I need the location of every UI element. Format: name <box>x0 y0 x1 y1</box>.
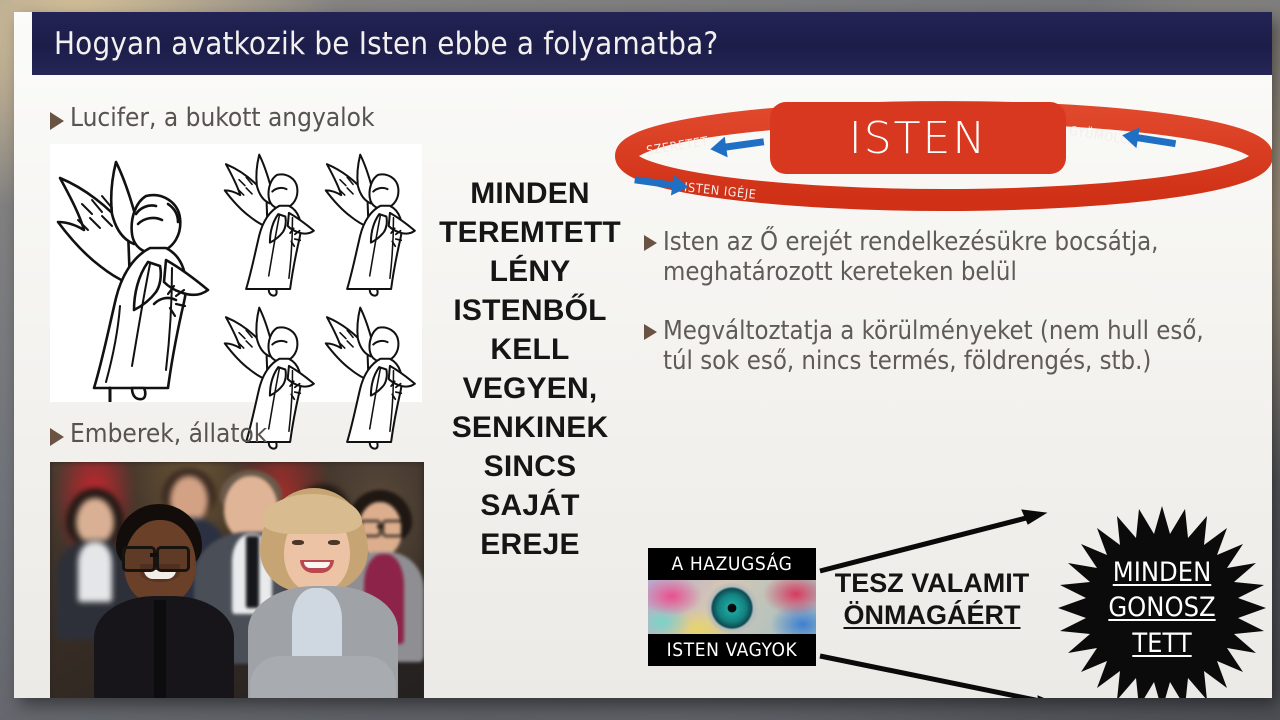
arrow-right-top-icon <box>1121 125 1178 154</box>
angel-large-icon <box>50 144 220 402</box>
connector-text-line2: ÖNMAGÁÉRT <box>826 600 1038 632</box>
page-title: Hogyan avatkozik be Isten ebbe a folyama… <box>32 26 718 62</box>
center-statement: MINDEN TEREMTETT LÉNY ISTENBŐL KELL VEGY… <box>432 174 628 564</box>
angel-small-grid <box>220 144 422 402</box>
statement-line: SENKINEK <box>432 408 628 447</box>
statement-line: TEREMTETT <box>432 213 628 252</box>
starburst-line2: GONOSZ <box>1108 590 1215 625</box>
lie-card: A HAZUGSÁG ISTEN VAGYOK <box>648 548 816 666</box>
bullet-isten-ereje: Isten az Ő erejét rendelkezésükre bocsát… <box>644 228 1224 287</box>
starburst-line3: TETT <box>1132 626 1191 661</box>
angel-small-icon <box>321 144 422 297</box>
arrow-to-star-bottom <box>820 656 1050 698</box>
bullet-korulmenyek: Megváltoztatja a körülményeket (nem hull… <box>644 317 1224 376</box>
connector-text: TESZ VALAMIT ÖNMAGÁÉRT <box>826 568 1038 632</box>
lie-card-bottom-band: ISTEN VAGYOK <box>648 634 816 666</box>
angel-illustration-group <box>50 144 422 402</box>
statement-line: ISTENBŐL <box>432 291 628 330</box>
bullet-emberek: Emberek, állatok <box>50 420 420 449</box>
cycle-arrows <box>633 125 1177 198</box>
people-photo <box>50 462 424 698</box>
statement-line: KELL <box>432 330 628 369</box>
eye-image <box>648 580 816 634</box>
slide-stage: Hogyan avatkozik be Isten ebbe a folyama… <box>0 0 1280 720</box>
lie-card-top-band: A HAZUGSÁG <box>648 548 816 580</box>
statement-line: VEGYEN, <box>432 369 628 408</box>
statement-line: MINDEN <box>432 174 628 213</box>
starburst-badge: MINDEN GONOSZ TETT <box>1044 504 1272 698</box>
angel-small-icon <box>220 144 321 297</box>
bullet-isten-ereje-label: Isten az Ő erejét rendelkezésükre bocsát… <box>663 228 1224 287</box>
arrow-to-star-top <box>820 516 1034 571</box>
person-front-woman <box>248 488 398 698</box>
arrow-left-bottom-icon <box>633 169 689 197</box>
triangle-bullet-icon <box>644 235 657 251</box>
statement-line: LÉNY <box>432 252 628 291</box>
bullet-lucifer: Lucifer, a bukott angyalok <box>50 104 420 133</box>
arrow-left-top-icon <box>709 131 765 159</box>
isten-cycle-diagram: ISTEN SZERETET ISTEN IGÉJE GYÜMÖLCS <box>614 98 1272 212</box>
starburst-text: MINDEN GONOSZ TETT <box>1044 504 1272 698</box>
triangle-bullet-icon <box>50 112 64 130</box>
bullet-lucifer-label: Lucifer, a bukott angyalok <box>70 104 375 133</box>
person-front-man <box>94 504 234 698</box>
statement-line: SAJÁT <box>432 486 628 525</box>
statement-line: SINCS <box>432 447 628 486</box>
slide-title-bar: Hogyan avatkozik be Isten ebbe a folyama… <box>32 12 1272 75</box>
triangle-bullet-icon <box>644 324 657 340</box>
eye-art <box>648 580 816 634</box>
starburst-line1: MINDEN <box>1113 555 1212 590</box>
statement-line: EREJE <box>432 525 628 564</box>
bullet-korulmenyek-label: Megváltoztatja a körülményeket (nem hull… <box>663 317 1224 376</box>
slide-surface: Hogyan avatkozik be Isten ebbe a folyama… <box>14 12 1272 698</box>
connector-text-line1: TESZ VALAMIT <box>826 568 1038 600</box>
bullet-emberek-label: Emberek, állatok <box>70 420 267 449</box>
triangle-bullet-icon <box>50 428 64 446</box>
arrow-head-top-icon <box>1022 510 1046 524</box>
